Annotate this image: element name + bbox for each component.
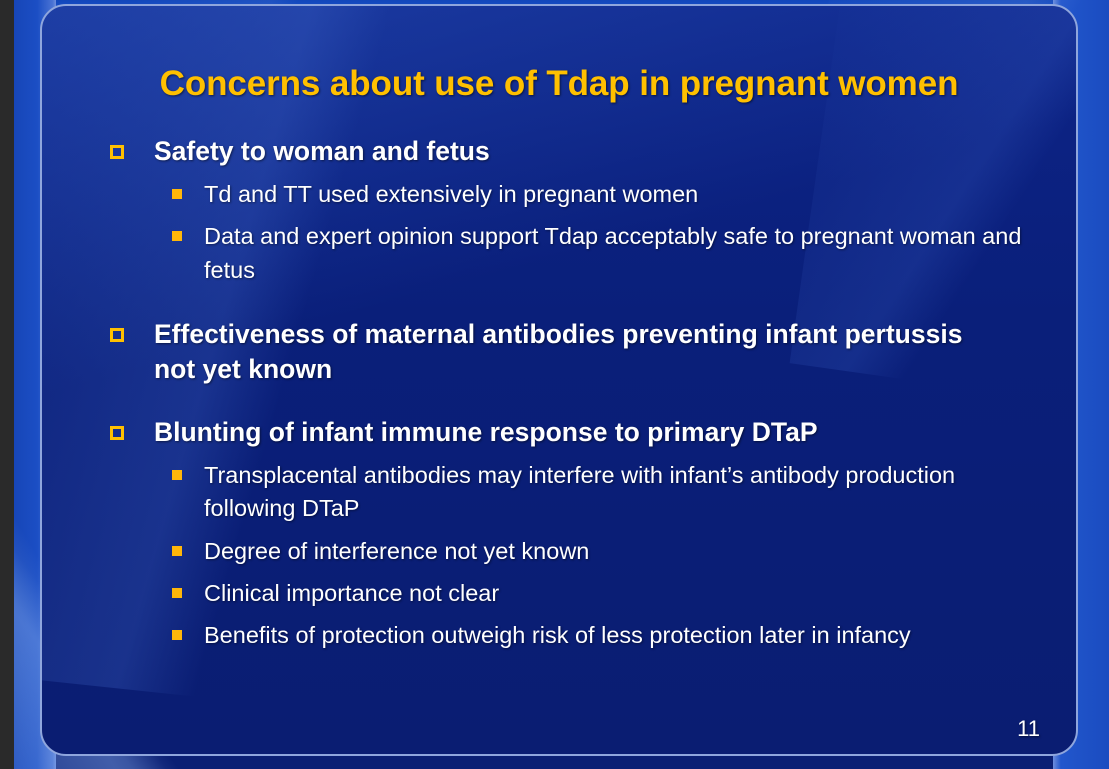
filled-square-bullet-icon <box>172 588 182 598</box>
bullet-level2: Data and expert opinion support Tdap acc… <box>70 220 1056 287</box>
filled-square-bullet-icon <box>172 630 182 640</box>
bullet-level2-group: Transplacental antibodies may interfere … <box>70 459 1056 653</box>
filled-square-bullet-icon <box>172 231 182 241</box>
bullet-level2: Degree of interference not yet known <box>70 535 1056 568</box>
hollow-square-bullet-icon <box>110 426 124 440</box>
bullet-level2-label: Data and expert opinion support Tdap acc… <box>204 220 1056 287</box>
bullet-level2-group: Td and TT used extensively in pregnant w… <box>70 178 1056 287</box>
bullet-level2-label: Degree of interference not yet known <box>204 535 1056 568</box>
bullet-level1-label: Blunting of infant immune response to pr… <box>154 415 818 450</box>
hollow-square-bullet-icon <box>110 145 124 159</box>
background-left-edge-strip <box>0 0 14 769</box>
bullet-level2: Transplacental antibodies may interfere … <box>70 459 1056 526</box>
filled-square-bullet-icon <box>172 189 182 199</box>
bullet-level2: Td and TT used extensively in pregnant w… <box>70 178 1056 211</box>
bullet-level1-label: Effectiveness of maternal antibodies pre… <box>154 317 994 387</box>
filled-square-bullet-icon <box>172 546 182 556</box>
bullet-level2-label: Transplacental antibodies may interfere … <box>204 459 1024 526</box>
bullet-level2-label: Td and TT used extensively in pregnant w… <box>204 178 1056 211</box>
slide-content-panel: Concerns about use of Tdap in pregnant w… <box>40 4 1078 756</box>
bullet-level2-label: Clinical importance not clear <box>204 577 1056 610</box>
slide-number: 11 <box>1017 716 1040 742</box>
hollow-square-bullet-icon <box>110 328 124 342</box>
slide-body: Safety to woman and fetus Td and TT used… <box>70 134 1056 653</box>
bullet-level1: Safety to woman and fetus <box>70 134 1056 169</box>
bullet-level1-label: Safety to woman and fetus <box>154 134 490 169</box>
bullet-level2: Clinical importance not clear <box>70 577 1056 610</box>
bullet-level1: Effectiveness of maternal antibodies pre… <box>70 317 1056 387</box>
filled-square-bullet-icon <box>172 470 182 480</box>
bullet-level2: Benefits of protection outweigh risk of … <box>70 619 1056 652</box>
slide-title: Concerns about use of Tdap in pregnant w… <box>42 64 1076 104</box>
bullet-level2-label: Benefits of protection outweigh risk of … <box>204 619 1056 652</box>
presentation-slide: Concerns about use of Tdap in pregnant w… <box>0 0 1109 769</box>
bullet-level1: Blunting of infant immune response to pr… <box>70 415 1056 450</box>
